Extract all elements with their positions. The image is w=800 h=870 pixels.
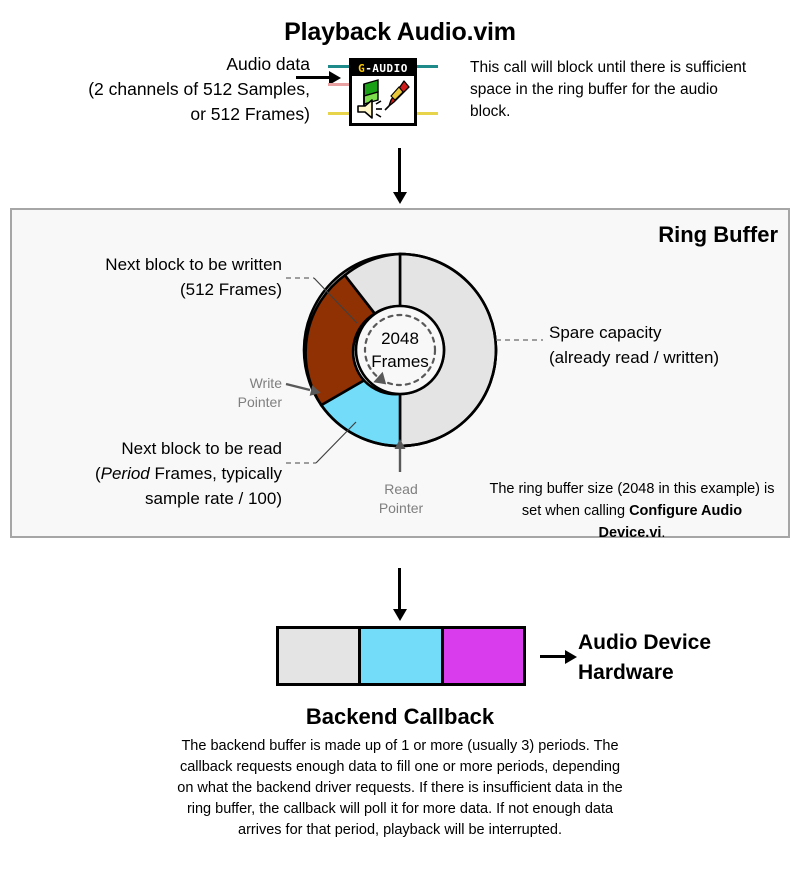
read-pointer-line-2: Pointer bbox=[366, 499, 436, 518]
audio-data-line-1: Audio data bbox=[10, 52, 310, 77]
speaker-and-note-icon bbox=[354, 78, 412, 122]
audio-device-hardware-label: Audio Device Hardware bbox=[578, 628, 788, 688]
arrow-backend-to-audio-device bbox=[540, 655, 566, 658]
backend-period-1 bbox=[279, 629, 358, 683]
playback-audio-vi-icon[interactable]: G-AUDIO bbox=[340, 58, 426, 126]
audio-device-hardware-line-1: Audio Device bbox=[578, 628, 788, 658]
label-next-block-written-line-2: (512 Frames) bbox=[20, 277, 282, 302]
backend-period-3 bbox=[441, 629, 523, 683]
label-next-block-written: Next block to be written (512 Frames) bbox=[20, 252, 282, 302]
backend-period-2 bbox=[358, 629, 440, 683]
label-spare-capacity-line-2: (already read / written) bbox=[549, 345, 789, 370]
wire-out-teal bbox=[414, 65, 438, 68]
read-line2-post: Frames, typically bbox=[150, 464, 282, 483]
ring-note-post: . bbox=[661, 525, 665, 541]
label-spare-capacity-line-1: Spare capacity bbox=[549, 320, 789, 345]
audio-data-line-2: (2 channels of 512 Samples, bbox=[10, 77, 310, 102]
arrow-audio-data-to-vi bbox=[296, 76, 330, 79]
arrow-ring-buffer-to-backend bbox=[398, 568, 401, 610]
leader-line-read bbox=[316, 422, 356, 463]
backend-buffer bbox=[276, 626, 526, 686]
write-pointer-label: Write Pointer bbox=[212, 374, 282, 412]
write-pointer-arrowhead bbox=[310, 385, 322, 398]
read-pointer-line-1: Read bbox=[366, 480, 436, 499]
label-next-block-written-line-1: Next block to be written bbox=[20, 252, 282, 277]
label-next-block-read-line-2: (Period Frames, typically bbox=[20, 461, 282, 486]
audio-data-line-3: or 512 Frames) bbox=[10, 102, 310, 127]
write-pointer-line-1: Write bbox=[212, 374, 282, 393]
label-next-block-read-line-3: sample rate / 100) bbox=[20, 486, 282, 511]
leader-line-written bbox=[314, 278, 357, 323]
read-pointer-arrowhead bbox=[395, 439, 406, 449]
backend-callback-title: Backend Callback bbox=[0, 704, 800, 730]
audio-data-label: Audio data (2 channels of 512 Samples, o… bbox=[10, 52, 310, 127]
label-next-block-read: Next block to be read (Period Frames, ty… bbox=[20, 436, 282, 511]
vi-icon-banner: G-AUDIO bbox=[352, 61, 414, 76]
vi-banner-rest: -AUDIO bbox=[365, 62, 408, 75]
arrow-vi-to-ring-buffer bbox=[398, 148, 401, 193]
diagram-canvas: Playback Audio.vim Audio data (2 channel… bbox=[0, 0, 800, 870]
read-pointer-label: Read Pointer bbox=[366, 480, 436, 518]
blocking-call-note: This call will block until there is suff… bbox=[470, 57, 760, 123]
label-next-block-read-line-1: Next block to be read bbox=[20, 436, 282, 461]
read-period-italic: Period bbox=[101, 464, 150, 483]
write-pointer-line-2: Pointer bbox=[212, 393, 282, 412]
wire-out-yellow bbox=[414, 112, 438, 115]
audio-device-hardware-line-2: Hardware bbox=[578, 658, 788, 688]
page-title: Playback Audio.vim bbox=[0, 18, 800, 47]
ring-buffer-size-note: The ring buffer size (2048 in this examp… bbox=[487, 478, 777, 544]
backend-callback-note: The backend buffer is made up of 1 or mo… bbox=[170, 736, 630, 841]
write-pointer-arrow-shaft bbox=[286, 384, 310, 390]
label-spare-capacity: Spare capacity (already read / written) bbox=[549, 320, 789, 370]
